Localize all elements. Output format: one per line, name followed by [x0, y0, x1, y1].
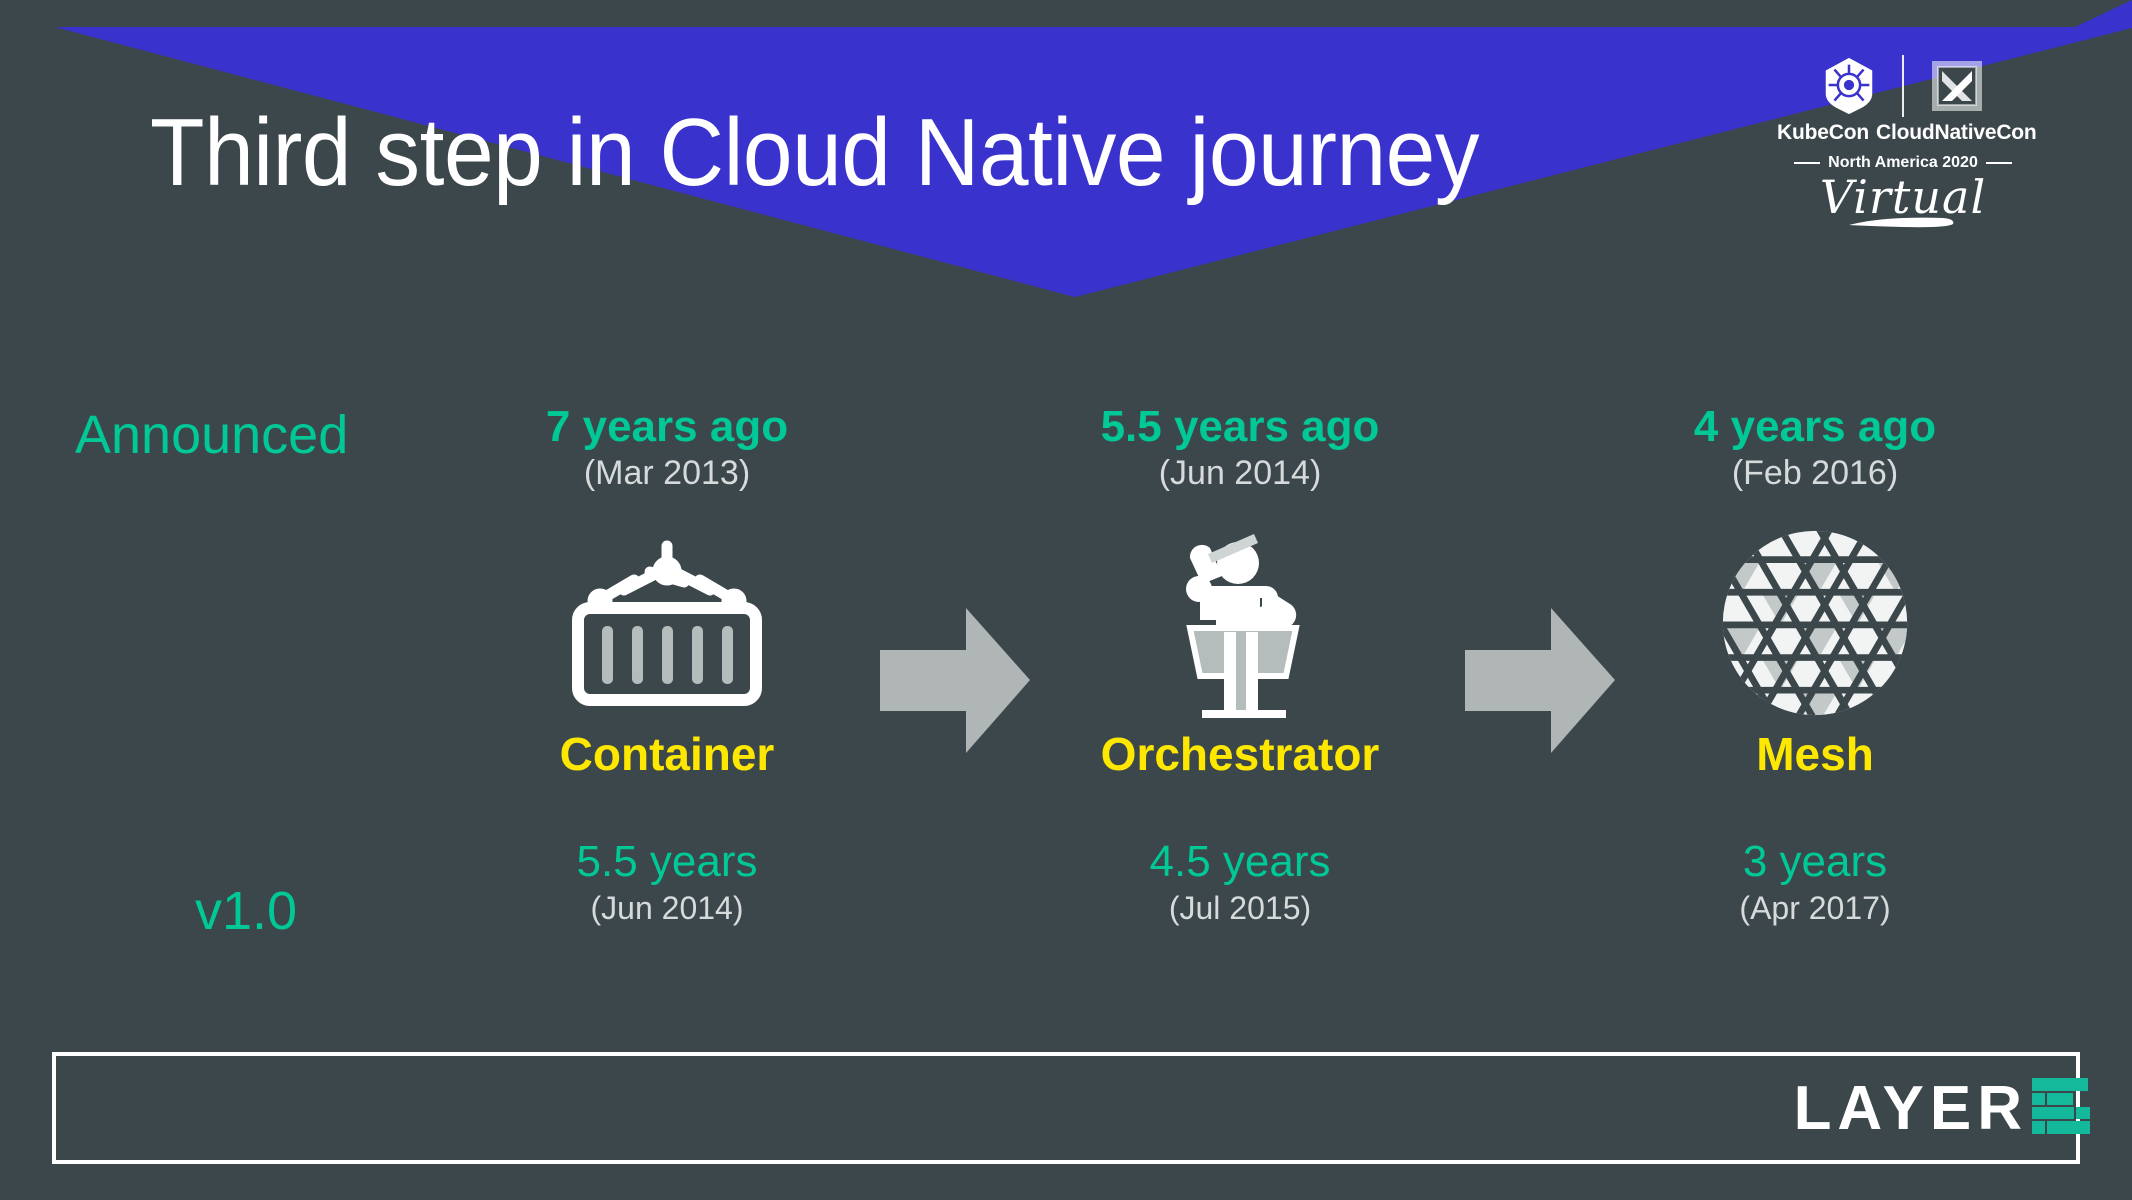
page-title: Third step in Cloud Native journey [150, 105, 1479, 201]
column-orchestrator: 5.5 years ago (Jun 2014) Orche [1050, 402, 1430, 930]
row-label-announced: Announced [75, 404, 348, 466]
kubecon-cloudnativecon-logo: KubeCon CloudNativeCon North America 202… [1768, 55, 2038, 235]
v10-age-0: 5.5 years [477, 837, 857, 888]
announced-age-1: 5.5 years ago [1050, 402, 1430, 451]
orchestra-conductor-icon [1050, 523, 1430, 723]
cloudnativecon-label: CloudNativeCon [1876, 121, 2036, 145]
v10-date-0: (Jun 2014) [477, 888, 857, 930]
arrow-right-icon [1465, 608, 1615, 758]
v10-date-2: (Apr 2017) [1625, 888, 2005, 930]
stage-label-1: Orchestrator [1050, 731, 1430, 777]
column-mesh: 4 years ago (Feb 2016) [1625, 402, 2005, 930]
kubecon-logo-names: KubeCon CloudNativeCon [1768, 121, 2038, 145]
announced-age-0: 7 years ago [477, 402, 857, 451]
stage-label-2: Mesh [1625, 731, 2005, 777]
v10-age-2: 3 years [1625, 837, 2005, 888]
virtual-underline-swoosh [1768, 214, 2038, 235]
cloudnativecon-square-icon [1904, 60, 2010, 112]
kubecon-label: KubeCon [1770, 121, 1876, 145]
announced-date-1: (Jun 2014) [1050, 451, 1430, 495]
service-mesh-icon [1625, 523, 2005, 723]
kubecon-logo-marks [1768, 55, 2038, 117]
announced-date-2: (Feb 2016) [1625, 451, 2005, 495]
v10-age-1: 4.5 years [1050, 837, 1430, 888]
kubernetes-helm-icon [1796, 55, 1902, 117]
announced-date-0: (Mar 2013) [477, 451, 857, 495]
layer5-digit-icon [2030, 1076, 2094, 1143]
arrow-right-icon [880, 608, 1030, 758]
logo-divider [1902, 55, 1904, 117]
footer-bar [52, 1052, 2080, 1164]
rule-right [1986, 162, 2012, 164]
stage-label-0: Container [477, 731, 857, 777]
layer5-wordmark: LAYER [1794, 1078, 2028, 1140]
shipping-container-icon [477, 523, 857, 723]
rule-left [1794, 162, 1820, 164]
slide-root: Third step in Cloud Native journey [0, 0, 2132, 1200]
row-label-v1-0: v1.0 [195, 880, 297, 942]
announced-age-2: 4 years ago [1625, 402, 2005, 451]
layer5-logo: LAYER [1794, 1078, 2094, 1140]
v10-date-1: (Jul 2015) [1050, 888, 1430, 930]
column-container: 7 years ago (Mar 2013) [477, 402, 857, 930]
